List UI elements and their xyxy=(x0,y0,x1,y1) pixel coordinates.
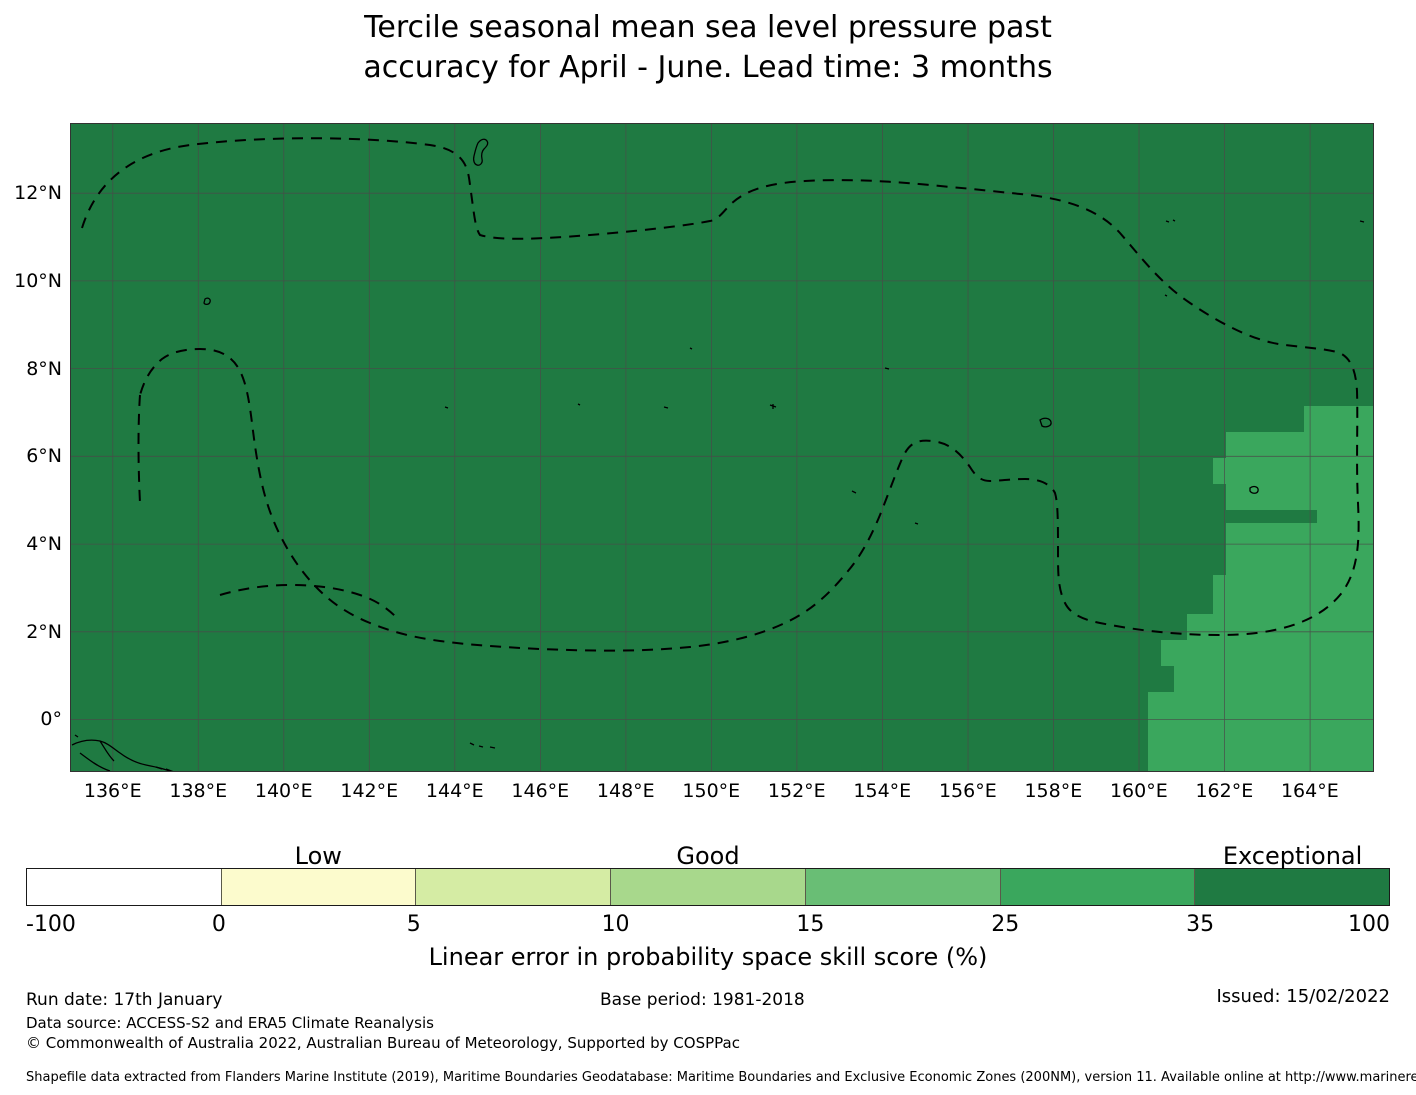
y-tick-label: 0° xyxy=(0,708,62,730)
colorbar-tick-label: 0 xyxy=(212,912,226,937)
x-tick-label: 164°E xyxy=(1281,780,1339,802)
colorbar-tick-label: 100 xyxy=(1348,912,1390,937)
x-tick-label: 154°E xyxy=(853,780,911,802)
copyright-text: © Commonwealth of Australia 2022, Austra… xyxy=(26,1034,740,1052)
x-tick-label: 148°E xyxy=(597,780,655,802)
y-tick-label: 8°N xyxy=(0,358,62,380)
map-canvas xyxy=(70,123,1374,772)
x-tick-label: 156°E xyxy=(939,780,997,802)
run-date-text: Run date: 17th January xyxy=(26,990,222,1010)
colorbar-category-low: Low xyxy=(295,842,342,870)
colorbar-segment--100-0 xyxy=(27,869,222,905)
longitude-axis: 136°E138°E140°E142°E144°E146°E148°E150°E… xyxy=(70,780,1374,810)
colorbar-segment-10-15 xyxy=(611,869,806,905)
skill-colorbar[interactable] xyxy=(26,868,1390,906)
y-tick-label: 2°N xyxy=(0,621,62,643)
x-tick-label: 140°E xyxy=(255,780,313,802)
colorbar-segment-35-100 xyxy=(1195,869,1389,905)
title-line-2: accuracy for April - June. Lead time: 3 … xyxy=(0,48,1416,88)
page-title: Tercile seasonal mean sea level pressure… xyxy=(0,8,1416,88)
data-source-text: Data source: ACCESS-S2 and ERA5 Climate … xyxy=(26,1014,434,1032)
colorbar-tick-label: -100 xyxy=(26,912,76,937)
x-tick-label: 144°E xyxy=(426,780,484,802)
latitude-axis: 0°2°N4°N6°N8°N10°N12°N xyxy=(0,123,62,772)
skill-score-map xyxy=(70,123,1374,772)
x-tick-label: 142°E xyxy=(340,780,398,802)
colorbar-tick-label: 10 xyxy=(602,912,630,937)
x-tick-label: 138°E xyxy=(169,780,227,802)
colorbar-panel xyxy=(26,868,1390,906)
issued-date-text: Issued: 15/02/2022 xyxy=(1216,986,1390,1007)
title-line-1: Tercile seasonal mean sea level pressure… xyxy=(0,8,1416,48)
colorbar-segment-25-35 xyxy=(1001,869,1196,905)
x-tick-label: 146°E xyxy=(511,780,569,802)
shapefile-credit-text: Shapefile data extracted from Flanders M… xyxy=(26,1070,1416,1085)
y-tick-label: 4°N xyxy=(0,533,62,555)
x-tick-label: 136°E xyxy=(84,780,142,802)
x-tick-label: 150°E xyxy=(682,780,740,802)
colorbar-tick-label: 15 xyxy=(796,912,824,937)
x-tick-label: 160°E xyxy=(1110,780,1168,802)
colorbar-axis-label: Linear error in probability space skill … xyxy=(0,943,1416,971)
colorbar-category-exceptional: Exceptional xyxy=(1223,842,1363,870)
x-tick-label: 152°E xyxy=(768,780,826,802)
colorbar-segment-15-25 xyxy=(806,869,1001,905)
colorbar-category-good: Good xyxy=(676,842,739,870)
colorbar-segment-5-10 xyxy=(416,869,611,905)
x-tick-label: 162°E xyxy=(1195,780,1253,802)
colorbar-segment-0-5 xyxy=(222,869,417,905)
colorbar-tick-label: 35 xyxy=(1186,912,1214,937)
x-tick-label: 158°E xyxy=(1024,780,1082,802)
colorbar-tick-label: 25 xyxy=(991,912,1019,937)
base-period-text: Base period: 1981-2018 xyxy=(600,990,805,1010)
colorbar-tick-label: 5 xyxy=(407,912,421,937)
y-tick-label: 12°N xyxy=(0,182,62,204)
y-tick-label: 6°N xyxy=(0,445,62,467)
y-tick-label: 10°N xyxy=(0,270,62,292)
